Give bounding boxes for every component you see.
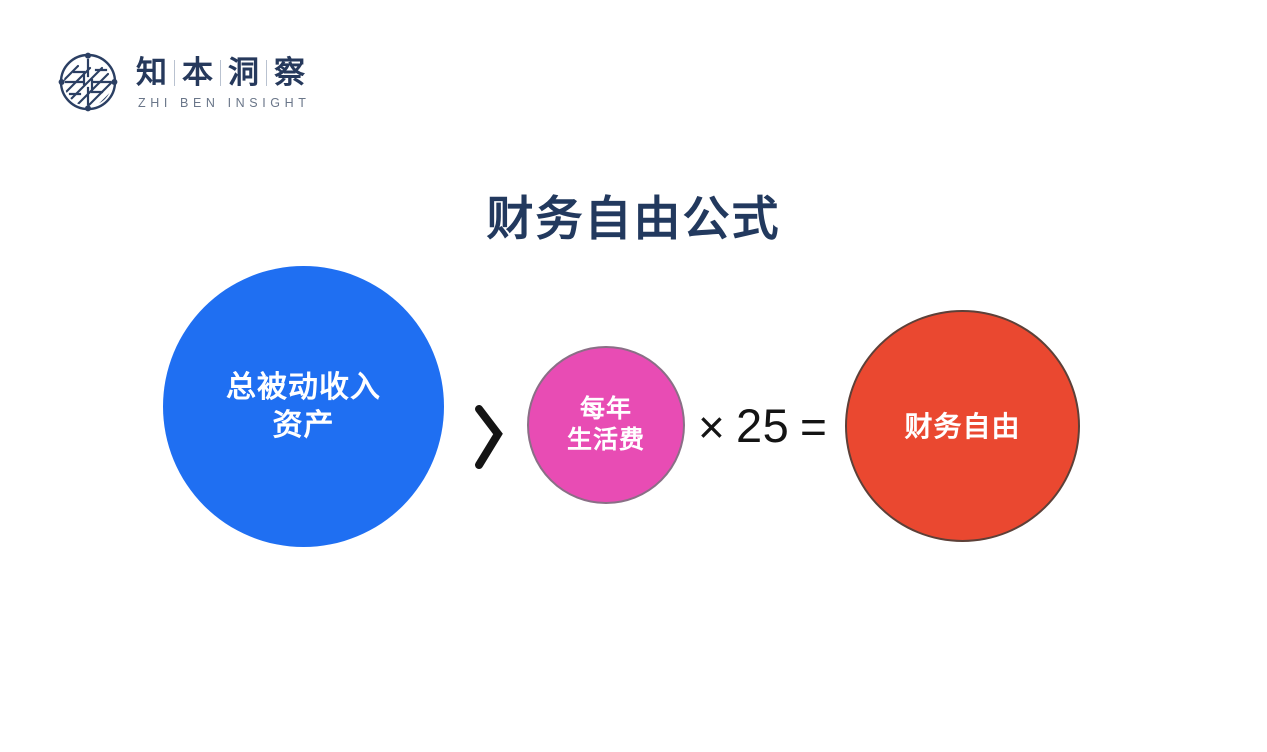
slide-canvas: 知 本 洞 察 ZHI BEN INSIGHT 财务自由公式 总被动收入 资产 … bbox=[0, 0, 1267, 752]
multiplier-value: 25 bbox=[736, 402, 789, 449]
node-annual-living-expense: 每年 生活费 bbox=[527, 346, 685, 504]
node-financial-freedom: 财务自由 bbox=[845, 310, 1080, 542]
node-expense-label: 每年 生活费 bbox=[559, 394, 653, 457]
node-result-label: 财务自由 bbox=[896, 409, 1028, 444]
node-passive-income-assets: 总被动收入 资产 bbox=[163, 266, 444, 547]
formula-diagram: 总被动收入 资产 每年 生活费 × 25 = 财务自由 bbox=[0, 0, 1267, 752]
multiply-icon: × bbox=[698, 404, 725, 450]
equals-icon: = bbox=[800, 404, 827, 450]
node-assets-label: 总被动收入 资产 bbox=[218, 369, 389, 444]
greater-than-icon bbox=[468, 392, 510, 476]
